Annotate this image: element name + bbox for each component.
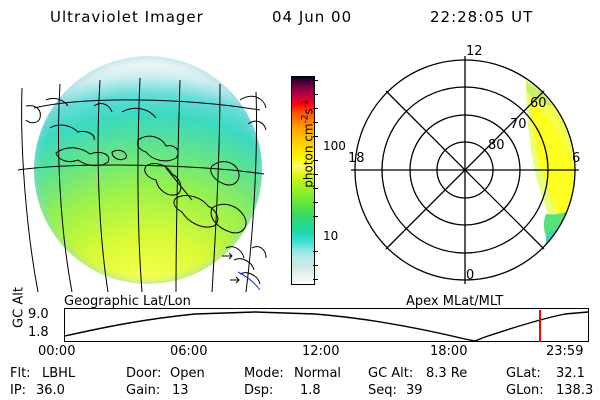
status-glat-label: GLat: (506, 366, 541, 381)
time-tick-0000: 00:00 (38, 344, 75, 359)
altitude-curve (65, 309, 588, 341)
colorbar-legend: 100 10 photon cm-2s-1 (272, 48, 338, 296)
mlt-spokes (351, 56, 579, 284)
status-gain-label: Gain: (126, 383, 160, 398)
status-glat-value: 32.1 (556, 366, 585, 381)
mlat-label-70: 70 (510, 117, 527, 132)
status-flt-value: LBHL (42, 366, 75, 381)
header-bar: Ultraviolet Imager 04 Jun 00 22:28:05 UT (0, 4, 600, 30)
status-seq-value: 39 (406, 383, 423, 398)
apex-panel-title: Apex MLat/MLT (406, 294, 503, 309)
colorbar-axis: 100 10 (313, 76, 339, 285)
geographic-panel-title: Geographic Lat/Lon (64, 294, 191, 309)
latitude-lines (18, 100, 264, 174)
observation-date: 04 Jun 00 (272, 8, 352, 26)
altitude-time-plot[interactable] (64, 308, 589, 342)
mlt-label-6: 6 (572, 151, 580, 166)
status-glon-label: GLon: (506, 383, 544, 398)
colorbar-tick-10: 10 (323, 231, 338, 241)
time-tick-1200: 12:00 (302, 344, 339, 359)
colorbar-unit-main: photon cm (302, 123, 316, 187)
track-line (238, 272, 260, 290)
status-door-value: Open (170, 366, 205, 381)
status-glon-value: 138.3 (556, 383, 593, 398)
altitude-tick-bottom: 1.8 (28, 325, 49, 340)
colorbar-unit-exp2: -1 (301, 99, 311, 108)
apex-polar-panel[interactable]: 12 18 6 0 60 70 80 (340, 46, 590, 296)
direction-arrows (222, 253, 239, 283)
status-ip-label: IP: (10, 383, 26, 398)
altitude-axis-label: GC Alt (12, 284, 27, 332)
status-seq-label: Seq: (368, 383, 397, 398)
mlt-label-0: 0 (466, 268, 474, 283)
instrument-title: Ultraviolet Imager (50, 8, 204, 26)
status-gcalt-value: 8.3 Re (426, 366, 467, 381)
status-gain-value: 13 (172, 383, 189, 398)
polar-grid-overlay (340, 46, 590, 296)
status-ip-value: 36.0 (36, 383, 65, 398)
mlat-label-80: 80 (488, 138, 505, 153)
mlt-label-12: 12 (466, 44, 483, 59)
status-flt-label: Flt: (10, 366, 31, 381)
status-door-label: Door: (126, 366, 161, 381)
mlat-label-60: 60 (530, 96, 547, 111)
current-time-marker (539, 310, 541, 342)
geographic-overlay (16, 48, 266, 293)
colorbar-axis-title: photon cm-2s-1 (301, 79, 316, 209)
time-tick-1800: 18:00 (430, 344, 467, 359)
colorbar-unit-mid: s (302, 108, 316, 114)
mlt-label-18: 18 (348, 151, 365, 166)
geographic-image-panel[interactable] (16, 48, 266, 293)
status-dsp-value: 1.8 (300, 383, 321, 398)
status-mode-value: Normal (294, 366, 341, 381)
status-gcalt-label: GC Alt: (368, 366, 413, 381)
longitude-lines (22, 78, 257, 292)
altitude-tick-top: 9.0 (28, 307, 49, 322)
time-tick-0600: 06:00 (170, 344, 207, 359)
colorbar-unit-exp1: -2 (301, 114, 311, 123)
status-dsp-label: Dsp: (244, 383, 273, 398)
status-mode-label: Mode: (244, 366, 284, 381)
observation-time: 22:28:05 UT (430, 8, 533, 26)
time-tick-2359: 23:59 (546, 344, 583, 359)
